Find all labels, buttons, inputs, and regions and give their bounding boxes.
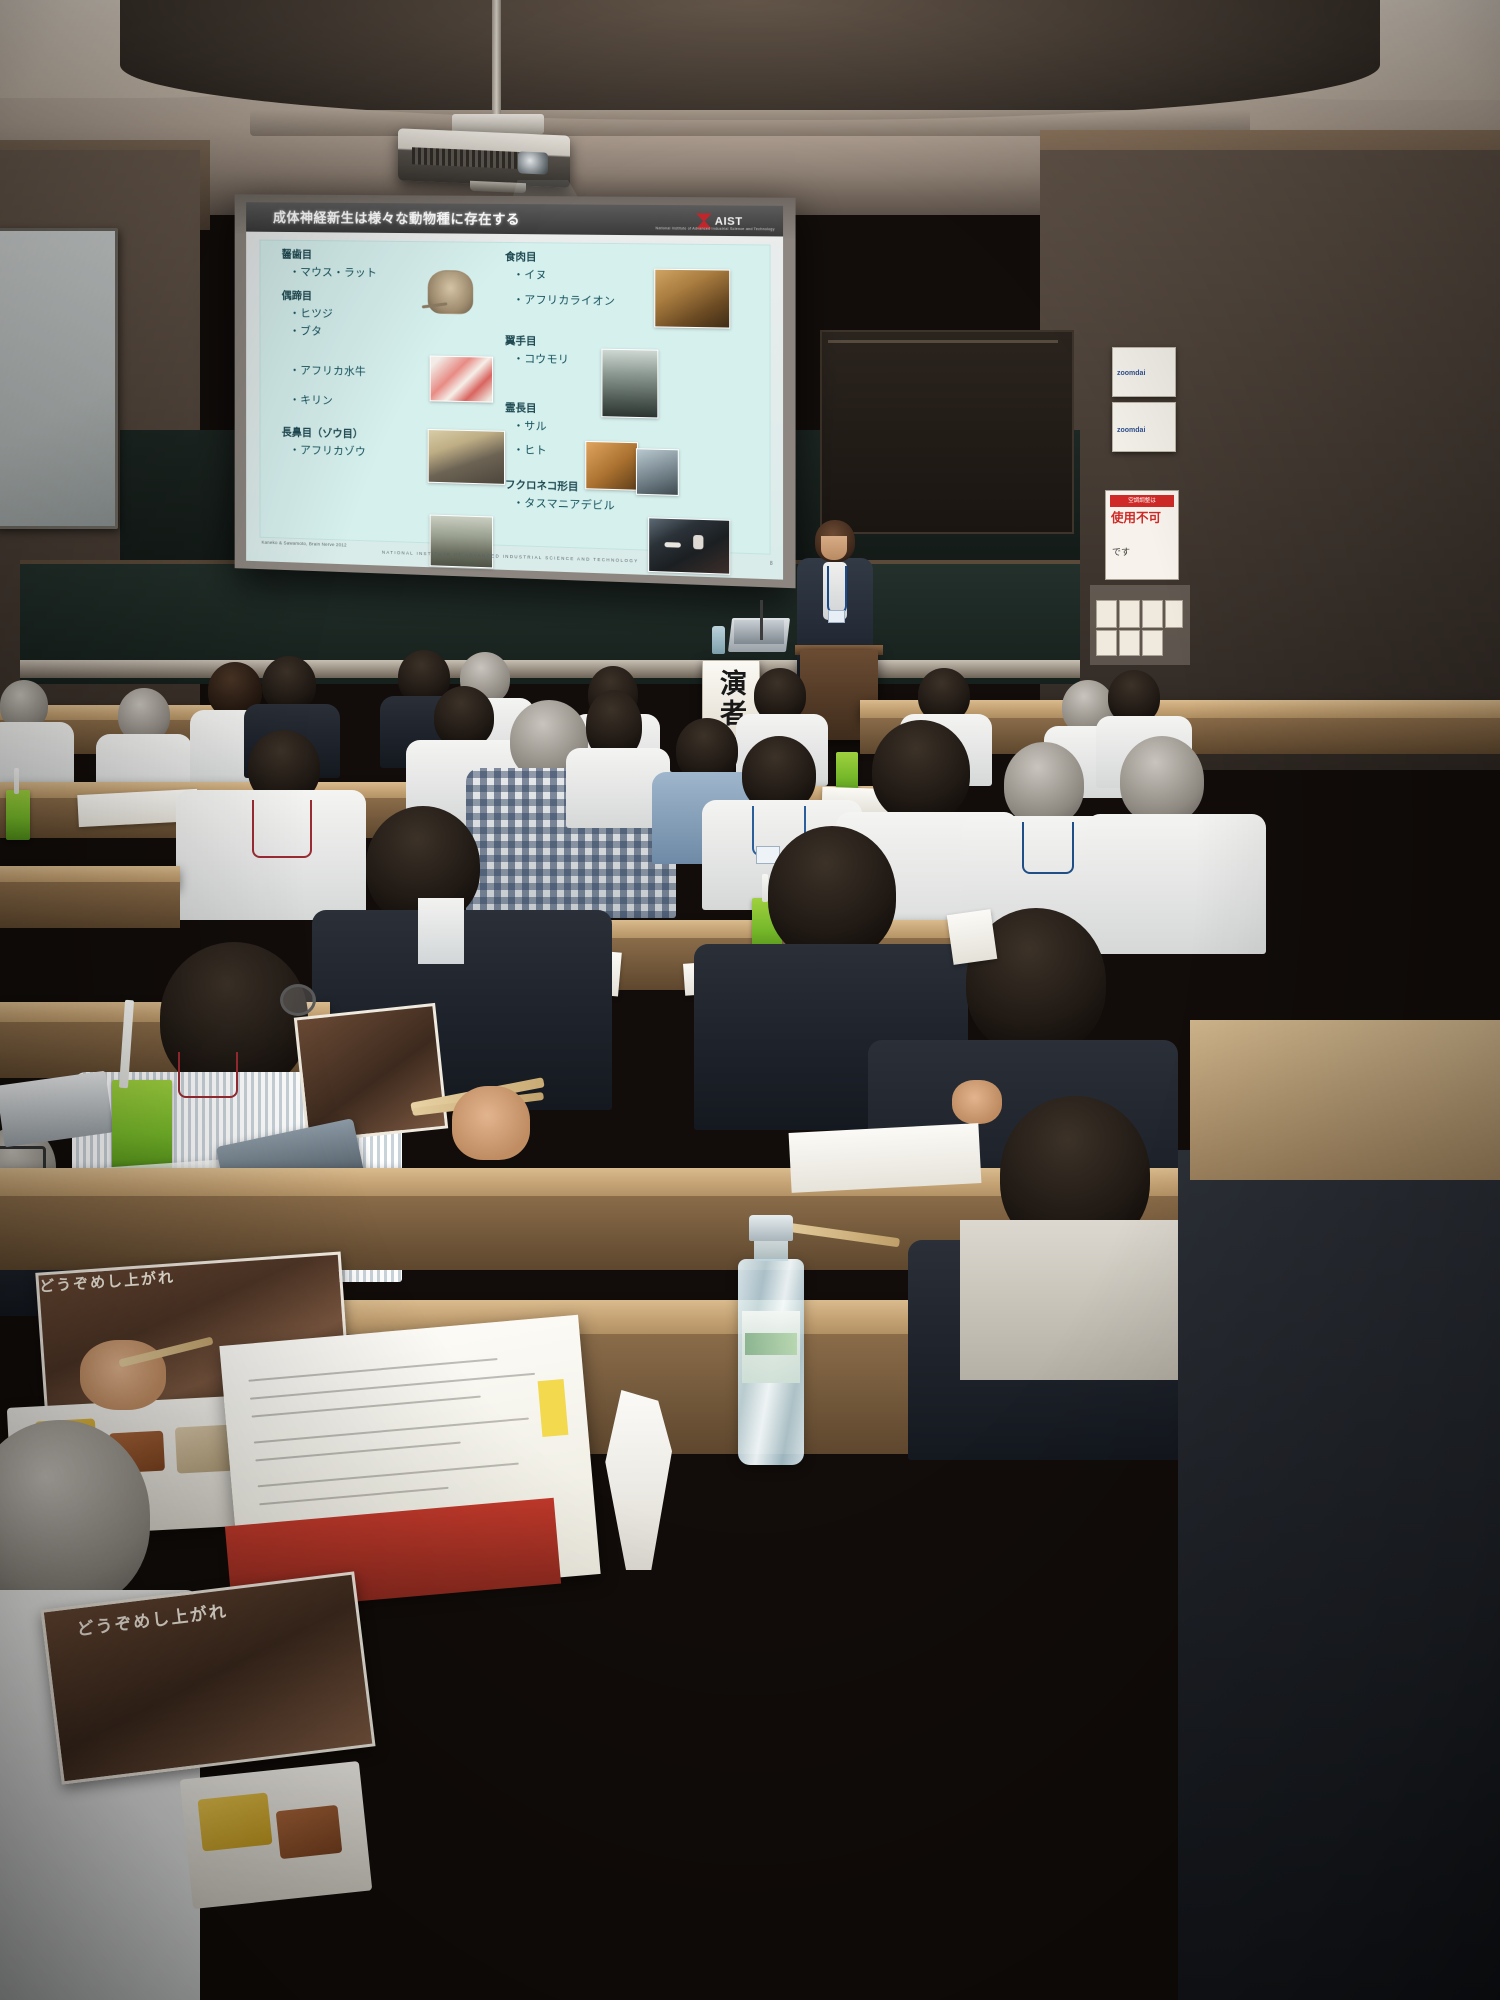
order-label: 齧歯目 [282, 247, 513, 264]
attendee-head [768, 826, 896, 960]
wall-notice-1-text: zoomdai [1117, 370, 1145, 377]
room-right-shadow [1178, 1150, 1500, 2000]
wall-notice-2: zoomdai [1112, 402, 1176, 452]
notice-header-band: 空調調整は [1110, 495, 1174, 507]
wall-panel-line [828, 340, 1058, 343]
wall-panel-right [820, 330, 1074, 534]
attendee-head [1004, 742, 1084, 826]
photo-african-buffalo [428, 429, 505, 485]
attendee-lanyard [178, 1052, 238, 1098]
whiteboard [0, 228, 118, 529]
aist-logo-text: AIST [715, 215, 743, 227]
attendee-torso [1086, 814, 1266, 954]
order-label: 偶蹄目 [282, 288, 513, 306]
presentation-slide: 成体神経新生は様々な動物種に存在する AIST National Institu… [246, 202, 783, 579]
photo-bat [601, 349, 658, 419]
attendee-head [434, 686, 494, 748]
presenter-badge [828, 610, 845, 623]
projector-mount-pole [492, 0, 501, 120]
document-tab-marker [538, 1379, 569, 1437]
slide-column-right: 食肉目 ・イヌ ・アフリカライオン 翼手目 ・コウモリ 霊長目 ・サル ・ヒト [505, 249, 745, 526]
slide-title: 成体神経新生は様々な動物種に存在する [273, 206, 690, 229]
drink-carton [6, 790, 30, 840]
wall-notice-1: zoomdai [1112, 347, 1176, 397]
hand [452, 1086, 530, 1160]
doc-text-line [259, 1487, 448, 1506]
handout-paper [947, 909, 998, 965]
food-item [276, 1805, 343, 1859]
attendee-shirt-collar [418, 898, 464, 964]
species-label: ・サル [513, 417, 745, 439]
seat-back [960, 1220, 1200, 1380]
doc-text-line [258, 1463, 519, 1488]
presenter-water-bottle [712, 626, 725, 654]
notice-sub-text: です [1112, 545, 1130, 558]
species-label: ・マウス・ラット [289, 263, 513, 282]
photo-mouse [428, 270, 473, 314]
photo-devil-marking [664, 542, 680, 548]
wall-notice-2-text: zoomdai [1117, 427, 1145, 434]
slide-column-left: 齧歯目 ・マウス・ラット 偶蹄目 ・ヒツジ ・ブタ ・アフリカ水牛 ・キリン 長… [282, 247, 513, 472]
ceiling-recess [120, 0, 1380, 120]
desk-right-edge [1190, 1020, 1500, 1180]
water-bottle [735, 1215, 807, 1465]
photo-pig [430, 356, 493, 403]
notice-header-text: 空調調整は [1110, 495, 1174, 507]
slide-group-rodentia: 齧歯目 ・マウス・ラット [282, 247, 513, 282]
notice-card [1096, 630, 1117, 656]
eyeglasses-icon [280, 984, 316, 1016]
notice-card [1142, 600, 1163, 628]
order-label: 食肉目 [505, 249, 745, 267]
species-label: ・ブタ [289, 322, 513, 342]
slide-page-number: 8 [770, 561, 773, 567]
photo-monkey [585, 441, 638, 491]
notice-card [1119, 600, 1140, 628]
air-conditioning-notice: 空調調整は 使用不可 です [1105, 490, 1179, 580]
doc-text-line [254, 1417, 529, 1443]
handout-paper [789, 1123, 982, 1193]
photo-human [636, 448, 679, 496]
projector-lens [518, 151, 548, 174]
lecture-hall-photo: 成体神経新生は様々な動物種に存在する AIST National Institu… [0, 0, 1500, 2000]
attendee-head [872, 720, 970, 822]
bento-lid [294, 1003, 448, 1143]
doc-text-line [255, 1442, 460, 1462]
bottle-label-band [745, 1333, 797, 1355]
species-label: ・ヒツジ [289, 305, 513, 324]
doc-text-line [248, 1358, 497, 1382]
bento-package-text: どうぞめし上がれ [39, 1269, 176, 1295]
projection-screen: 成体神経新生は様々な動物種に存在する AIST National Institu… [235, 194, 796, 588]
presenter-lanyard [827, 566, 847, 614]
bottle-cap [749, 1215, 793, 1241]
bottle-neck [754, 1239, 788, 1261]
notice-main-text: 使用不可 [1111, 511, 1173, 526]
chalk-rail [20, 660, 1080, 678]
photo-african-lion [654, 269, 730, 329]
microphone-stand [760, 600, 763, 640]
desk-front [0, 882, 180, 928]
notice-card [1096, 600, 1117, 628]
attendee-lanyard [1022, 822, 1074, 874]
photo-african-elephant [430, 515, 493, 569]
photo-devil-marking-2 [693, 535, 703, 550]
wall-right [1040, 150, 1500, 770]
notice-card [1142, 630, 1163, 656]
attendee-lanyard [252, 800, 312, 858]
slide-content-area: 齧歯目 ・マウス・ラット 偶蹄目 ・ヒツジ ・ブタ ・アフリカ水牛 ・キリン 長… [260, 240, 771, 555]
drink-straw [14, 768, 19, 794]
presenter-face [821, 536, 847, 560]
presenter-laptop-screen [734, 620, 784, 644]
notice-card [1119, 630, 1140, 656]
doc-text-line [252, 1396, 481, 1418]
hand [952, 1080, 1002, 1124]
notice-card [1165, 600, 1183, 628]
slide-group-artiodactyla: 偶蹄目 ・ヒツジ ・ブタ [282, 288, 513, 342]
attendee-head [1120, 736, 1204, 824]
food-item [197, 1792, 272, 1851]
